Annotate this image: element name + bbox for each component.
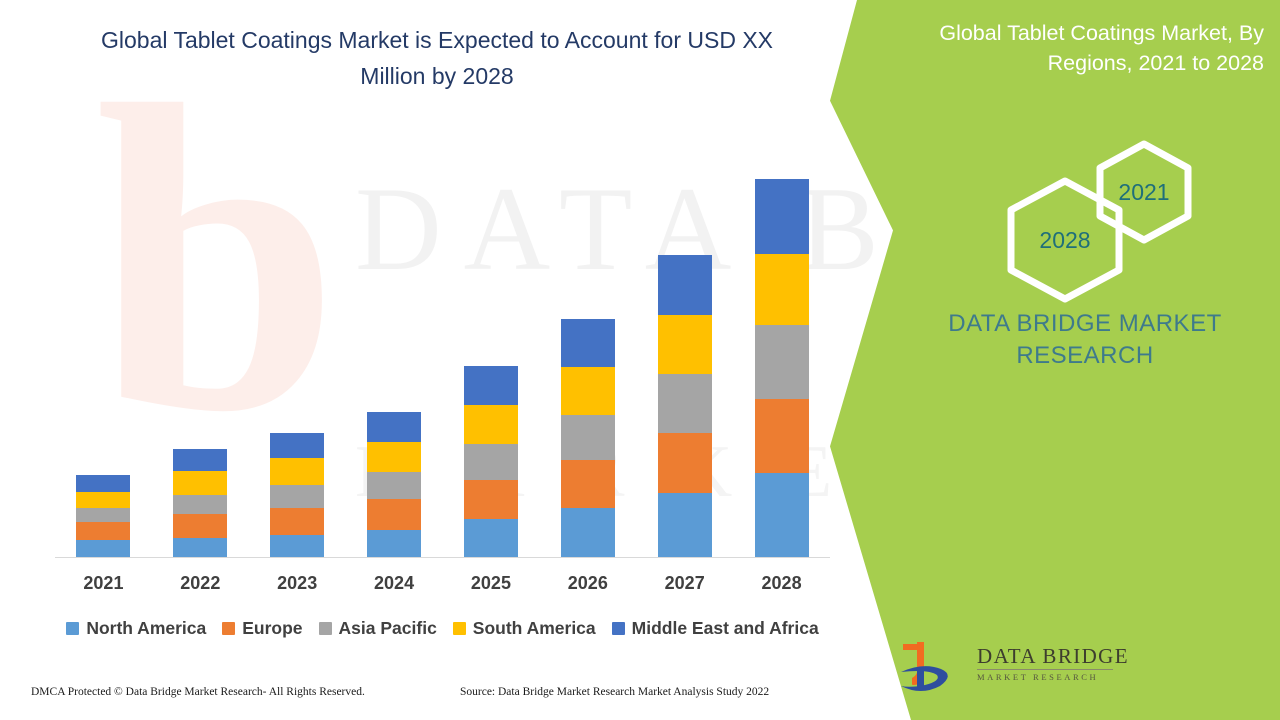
page-title: Global Tablet Coatings Market is Expecte… bbox=[72, 22, 802, 94]
logo-divider bbox=[977, 669, 1113, 670]
bar-segment-middle-east-and-africa bbox=[173, 449, 227, 471]
bar-segment-middle-east-and-africa bbox=[755, 179, 809, 254]
legend-swatch-icon bbox=[66, 622, 79, 635]
footer-dmca: DMCA Protected © Data Bridge Market Rese… bbox=[31, 686, 365, 698]
bar-segment-south-america bbox=[755, 254, 809, 325]
bar-segment-asia-pacific bbox=[76, 508, 130, 522]
bar-segment-europe bbox=[173, 514, 227, 537]
legend-label: Europe bbox=[242, 618, 302, 639]
stacked-bar bbox=[658, 255, 712, 557]
x-tick-2021: 2021 bbox=[55, 573, 151, 594]
bar-segment-south-america bbox=[367, 442, 421, 473]
bar-segment-asia-pacific bbox=[270, 485, 324, 508]
stacked-bar bbox=[270, 433, 324, 557]
stacked-bar bbox=[76, 475, 130, 557]
legend-item-middle-east-and-africa[interactable]: Middle East and Africa bbox=[612, 618, 819, 639]
x-tick-2025: 2025 bbox=[443, 573, 539, 594]
bar-segment-europe bbox=[76, 522, 130, 539]
bar-segment-north-america bbox=[561, 508, 615, 557]
infographic-page: b DATA B M A R K E T R E S Global Tablet… bbox=[0, 0, 1280, 720]
bar-segment-middle-east-and-africa bbox=[367, 412, 421, 442]
legend-swatch-icon bbox=[453, 622, 466, 635]
legend-label: North America bbox=[86, 618, 206, 639]
stacked-bar bbox=[755, 179, 809, 557]
bar-segment-north-america bbox=[270, 535, 324, 557]
panel-brand-text: DATA BRIDGE MARKET RESEARCH bbox=[920, 308, 1250, 372]
logo-main-text: DATA BRIDGE bbox=[977, 644, 1117, 668]
bar-segment-south-america bbox=[270, 458, 324, 485]
bar-segment-south-america bbox=[173, 471, 227, 494]
bar-column-2024 bbox=[346, 150, 442, 557]
stacked-bar bbox=[173, 449, 227, 557]
legend-label: Asia Pacific bbox=[339, 618, 437, 639]
bar-group bbox=[55, 150, 830, 557]
legend-item-south-america[interactable]: South America bbox=[453, 618, 596, 639]
hexagon-badges: 2021 2028 bbox=[992, 140, 1192, 280]
legend-swatch-icon bbox=[612, 622, 625, 635]
bar-column-2025 bbox=[443, 150, 539, 557]
x-tick-2026: 2026 bbox=[540, 573, 636, 594]
legend-item-asia-pacific[interactable]: Asia Pacific bbox=[319, 618, 437, 639]
bar-column-2023 bbox=[249, 150, 345, 557]
bar-segment-north-america bbox=[464, 519, 518, 557]
bar-segment-north-america bbox=[658, 493, 712, 557]
bar-column-2027 bbox=[637, 150, 733, 557]
bar-segment-middle-east-and-africa bbox=[76, 475, 130, 491]
legend-swatch-icon bbox=[222, 622, 235, 635]
legend-label: South America bbox=[473, 618, 596, 639]
legend-item-north-america[interactable]: North America bbox=[66, 618, 206, 639]
bar-segment-middle-east-and-africa bbox=[270, 433, 324, 459]
bar-segment-north-america bbox=[173, 538, 227, 557]
bar-segment-europe bbox=[464, 480, 518, 520]
bar-segment-north-america bbox=[76, 540, 130, 557]
bar-segment-south-america bbox=[561, 367, 615, 415]
x-tick-2023: 2023 bbox=[249, 573, 345, 594]
bar-column-2022 bbox=[152, 150, 248, 557]
stacked-bar bbox=[464, 366, 518, 557]
hexagon-2028-label: 2028 bbox=[1039, 227, 1090, 254]
x-tick-2028: 2028 bbox=[734, 573, 830, 594]
bar-segment-middle-east-and-africa bbox=[464, 366, 518, 405]
bar-segment-north-america bbox=[367, 530, 421, 557]
panel-title: Global Tablet Coatings Market, By Region… bbox=[894, 18, 1264, 78]
legend-label: Middle East and Africa bbox=[632, 618, 819, 639]
bar-segment-asia-pacific bbox=[561, 415, 615, 460]
bar-segment-south-america bbox=[658, 315, 712, 374]
bar-segment-europe bbox=[561, 460, 615, 508]
stacked-bar bbox=[561, 319, 615, 557]
legend-swatch-icon bbox=[319, 622, 332, 635]
bar-column-2028 bbox=[734, 150, 830, 557]
bar-segment-south-america bbox=[464, 405, 518, 444]
bar-segment-europe bbox=[755, 399, 809, 473]
hexagon-2028: 2028 bbox=[1006, 176, 1124, 304]
logo-text-block: DATA BRIDGE MARKET RESEARCH bbox=[977, 644, 1117, 683]
bar-segment-asia-pacific bbox=[755, 325, 809, 398]
chart-legend: North AmericaEuropeAsia PacificSouth Ame… bbox=[55, 612, 830, 644]
stacked-bar bbox=[367, 412, 421, 557]
x-tick-2027: 2027 bbox=[637, 573, 733, 594]
x-axis-line bbox=[55, 557, 830, 558]
bar-segment-south-america bbox=[76, 492, 130, 508]
bar-segment-europe bbox=[367, 499, 421, 531]
bar-column-2026 bbox=[540, 150, 636, 557]
footer: DMCA Protected © Data Bridge Market Rese… bbox=[0, 683, 850, 707]
bar-segment-europe bbox=[658, 433, 712, 493]
bar-segment-europe bbox=[270, 508, 324, 535]
bar-segment-middle-east-and-africa bbox=[658, 255, 712, 315]
chart-plot-area bbox=[55, 150, 830, 558]
company-logo: DATA BRIDGE MARKET RESEARCH bbox=[893, 638, 1113, 700]
x-axis-labels: 20212022202320242025202620272028 bbox=[55, 566, 830, 600]
bar-segment-north-america bbox=[755, 473, 809, 557]
bar-segment-asia-pacific bbox=[464, 444, 518, 480]
bar-segment-asia-pacific bbox=[658, 374, 712, 432]
x-tick-2022: 2022 bbox=[152, 573, 248, 594]
logo-sub-text: MARKET RESEARCH bbox=[977, 672, 1117, 683]
data-bridge-mark-icon bbox=[893, 638, 965, 698]
bar-segment-middle-east-and-africa bbox=[561, 319, 615, 367]
legend-item-europe[interactable]: Europe bbox=[222, 618, 302, 639]
bar-segment-asia-pacific bbox=[367, 472, 421, 499]
x-tick-2024: 2024 bbox=[346, 573, 442, 594]
bar-segment-asia-pacific bbox=[173, 495, 227, 514]
hexagon-2021-label: 2021 bbox=[1118, 179, 1169, 206]
footer-source: Source: Data Bridge Market Research Mark… bbox=[460, 686, 769, 698]
bar-column-2021 bbox=[55, 150, 151, 557]
